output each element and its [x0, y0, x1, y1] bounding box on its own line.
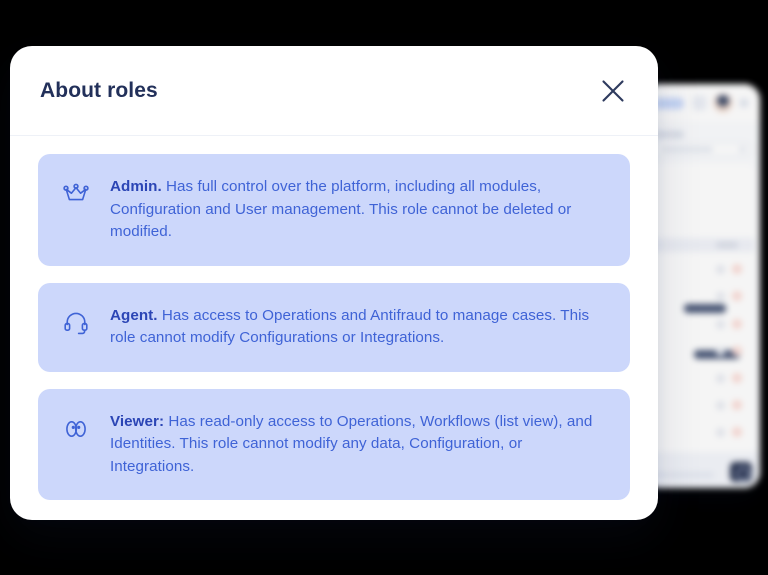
row-status-icon [716, 428, 725, 437]
background-primary-button [654, 98, 684, 109]
background-menu-icon [740, 99, 748, 107]
row-highlight-bar [684, 304, 726, 313]
modal-body: Admin. Has full control over the platfor… [10, 136, 658, 520]
eyes-icon [60, 413, 92, 445]
background-footer [644, 452, 760, 488]
background-table-panel [650, 164, 754, 454]
crown-icon [60, 178, 92, 210]
table-row [716, 400, 742, 410]
background-app-window [644, 84, 760, 488]
role-name: Admin. [110, 178, 162, 195]
screen: About roles [0, 0, 768, 575]
modal-header: About roles [10, 46, 658, 136]
table-row [716, 427, 742, 437]
row-action-icon [732, 427, 742, 437]
row-action-icon [732, 400, 742, 410]
background-toolbar [644, 84, 760, 122]
close-icon [600, 78, 626, 104]
table-row [716, 346, 742, 356]
row-status-icon [716, 320, 725, 329]
row-action-icon [732, 291, 742, 301]
close-button[interactable] [596, 74, 630, 108]
row-status-icon [716, 374, 725, 383]
table-row [716, 264, 742, 274]
row-status-icon [716, 265, 725, 274]
row-action-icon [732, 373, 742, 383]
row-status-icon [716, 292, 725, 301]
headset-icon [60, 307, 92, 339]
role-description-admin: Admin. Has full control over the platfor… [110, 176, 606, 244]
row-status-icon [716, 347, 725, 356]
role-card-viewer: Viewer: Has read-only access to Operatio… [38, 389, 630, 501]
role-description-agent: Agent. Has access to Operations and Anti… [110, 305, 606, 350]
role-card-agent: Agent. Has access to Operations and Anti… [38, 283, 630, 372]
background-search-input [652, 142, 752, 157]
avatar [715, 95, 731, 111]
role-card-admin: Admin. Has full control over the platfor… [38, 154, 630, 266]
row-action-icon [732, 264, 742, 274]
background-footer-text [652, 472, 714, 478]
role-description-viewer: Viewer: Has read-only access to Operatio… [110, 411, 606, 479]
role-desc: Has access to Operations and Antifraud t… [110, 307, 589, 347]
table-row [716, 319, 742, 329]
row-status-icon [716, 401, 725, 410]
about-roles-modal: About roles [10, 46, 658, 520]
background-table-header [650, 238, 754, 252]
page-title: About roles [40, 79, 596, 103]
role-name: Agent. [110, 307, 158, 324]
role-desc: Has full control over the platform, incl… [110, 178, 571, 240]
role-desc: Has read-only access to Operations, Work… [110, 413, 592, 475]
background-app-content [644, 84, 760, 488]
background-icon-button [693, 96, 706, 110]
background-help-button [730, 462, 752, 482]
row-action-icon [732, 346, 742, 356]
background-field-label [654, 131, 684, 138]
table-row [716, 291, 742, 301]
role-name: Viewer: [110, 413, 164, 430]
table-row [716, 373, 742, 383]
row-action-icon [732, 319, 742, 329]
